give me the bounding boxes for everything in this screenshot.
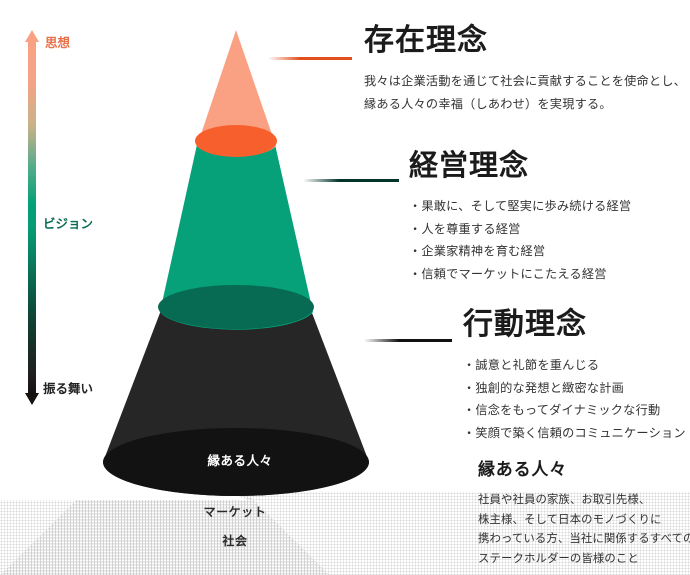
section-action-line: ・独創的な発想と緻密な計画 — [463, 377, 686, 400]
glossary-title: 縁ある人々 — [478, 455, 690, 480]
base-label-market: マーケット — [115, 503, 355, 520]
cone-top-disc — [195, 125, 277, 157]
section-existence-body: 我々は企業活動を通じて社会に貢献することを使命とし、 縁ある人々の幸福（しあわせ… — [364, 70, 686, 115]
glossary-line: ステークホルダーの皆様のこと — [478, 550, 690, 570]
section-action-body: ・誠意と礼節を重んじる ・独創的な発想と緻密な計画 ・信念をもってダイナミックな… — [463, 354, 686, 444]
section-existence: 存在理念 我々は企業活動を通じて社会に貢献することを使命とし、 縁ある人々の幸福… — [364, 26, 686, 115]
section-management-line: ・信頼でマーケットにこたえる経営 — [409, 263, 631, 286]
glossary-line: 社員や社員の家族、お取引先様、 — [478, 491, 690, 511]
section-action-line: ・信念をもってダイナミックな行動 — [463, 399, 686, 422]
glossary-line: 携わっている方、当社に関係するすべての — [478, 530, 690, 550]
glossary-line: 株主様、そして日本のモノづくりに — [478, 511, 690, 531]
cone-mid-disc — [158, 285, 314, 329]
cone-graphic: 縁ある人々 — [0, 0, 400, 500]
connector-rule-action — [364, 339, 452, 342]
section-existence-line: 縁ある人々の幸福（しあわせ）を実現する。 — [364, 93, 686, 116]
section-action-line: ・笑顔で築く信頼のコミュニケーション — [463, 422, 686, 445]
philosophy-diagram: 思想 ビジョン 振る舞い 縁ある人々 マーケット 社会 存在理念 我々は企業活動… — [0, 0, 690, 575]
section-action-title: 行動理念 — [463, 310, 686, 340]
connector-rule-management — [303, 179, 399, 182]
section-management-line: ・人を尊重する経営 — [409, 218, 631, 241]
cone-inner-label: 縁ある人々 — [150, 450, 330, 469]
section-management-line: ・果敢に、そして堅実に歩み続ける経営 — [409, 195, 631, 218]
section-existence-line: 我々は企業活動を通じて社会に貢献することを使命とし、 — [364, 70, 686, 93]
section-management-title: 経営理念 — [409, 152, 631, 181]
section-action-line: ・誠意と礼節を重んじる — [463, 354, 686, 377]
section-management-body: ・果敢に、そして堅実に歩み続ける経営 ・人を尊重する経営 ・企業家精神を育む経営… — [409, 195, 631, 285]
section-management: 経営理念 ・果敢に、そして堅実に歩み続ける経営 ・人を尊重する経営 ・企業家精神… — [409, 152, 631, 285]
connector-rule-existence — [268, 57, 352, 60]
section-management-line: ・企業家精神を育む経営 — [409, 240, 631, 263]
base-label-society: 社会 — [115, 532, 355, 549]
section-existence-title: 存在理念 — [364, 26, 686, 56]
glossary-enaru-hitobito: 縁ある人々 社員や社員の家族、お取引先様、 株主様、そして日本のモノづくりに 携… — [478, 455, 690, 569]
glossary-body: 社員や社員の家族、お取引先様、 株主様、そして日本のモノづくりに 携わっている方… — [478, 491, 690, 569]
section-action: 行動理念 ・誠意と礼節を重んじる ・独創的な発想と緻密な計画 ・信念をもってダイ… — [463, 310, 686, 444]
